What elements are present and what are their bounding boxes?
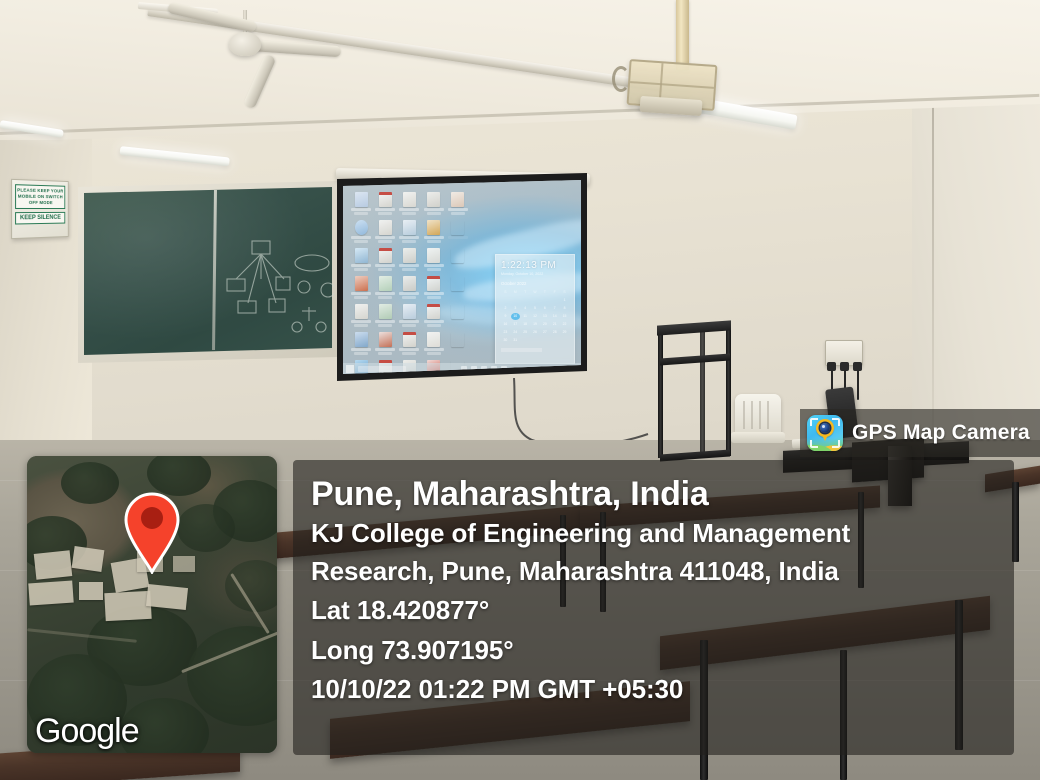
calendar-weekday-header: S (501, 289, 510, 296)
projector-mount-pole (676, 0, 689, 70)
wall-corner-edge (932, 84, 934, 434)
gps-map-camera-label: GPS Map Camera (852, 421, 1030, 445)
desktop-icon[interactable] (375, 220, 395, 243)
google-watermark: Google (35, 712, 139, 751)
calendar-day[interactable]: 26 (531, 329, 540, 336)
calendar-day[interactable]: 31 (511, 337, 520, 344)
calendar-day-empty (531, 297, 540, 304)
projection-screen: 1:22:13 PM Monday, October 10, 2022 Octo… (343, 180, 581, 374)
calendar-day[interactable]: 1 (560, 297, 569, 304)
desktop-icon[interactable] (399, 220, 419, 243)
calendar-day[interactable]: 13 (540, 313, 549, 320)
calendar-day[interactable]: 27 (540, 329, 549, 336)
gps-map-camera-badge: GPS Map Camera (800, 409, 1040, 457)
desktop-icon[interactable] (448, 332, 468, 355)
desktop-icon[interactable] (424, 332, 444, 355)
calendar-grid[interactable]: SMTWTFS123456789101112131415161718192021… (501, 289, 569, 344)
chalk-diagram (224, 235, 334, 345)
calendar-day-empty (511, 297, 520, 304)
desktop-icon[interactable] (448, 220, 468, 243)
desktop-icon[interactable] (351, 276, 371, 299)
desktop-icon[interactable] (375, 332, 395, 355)
calendar-weekday-header: W (531, 289, 540, 296)
desktop-icon[interactable] (399, 248, 419, 271)
calendar-weekday-header: M (511, 289, 520, 296)
calendar-footer (501, 348, 542, 352)
calendar-day[interactable]: 3 (511, 305, 520, 312)
desktop-icon[interactable] (351, 332, 371, 355)
desktop-icon[interactable] (351, 248, 371, 271)
calendar-day-empty (550, 337, 559, 344)
calendar-weekday-header: T (540, 289, 549, 296)
desktop-icon[interactable] (424, 192, 444, 215)
clock-date: Monday, October 10, 2022 (501, 272, 569, 276)
podium-leg (700, 332, 705, 456)
map-pin-icon (123, 492, 181, 574)
podium-leg (658, 328, 663, 458)
desktop-icons (351, 192, 469, 374)
timestamp-value: 10/10/22 01:22 PM GMT +05:30 (311, 670, 1014, 708)
calendar-day[interactable]: 14 (550, 313, 559, 320)
desktop-icon[interactable] (375, 276, 395, 299)
calendar-day[interactable]: 30 (501, 337, 510, 344)
desktop-icon[interactable] (351, 192, 371, 215)
desktop-icon[interactable] (424, 248, 444, 271)
calendar-day[interactable]: 16 (501, 321, 510, 328)
calendar-day[interactable]: 11 (521, 313, 530, 320)
calendar-day[interactable]: 19 (531, 321, 540, 328)
calendar-day[interactable]: 28 (550, 329, 559, 336)
clock-calendar-flyout[interactable]: 1:22:13 PM Monday, October 10, 2022 Octo… (495, 254, 575, 364)
desktop-icon[interactable] (399, 192, 419, 215)
plastic-chair-back (735, 394, 781, 436)
desktop-icon[interactable] (375, 248, 395, 271)
calendar-day-empty (501, 297, 510, 304)
notice-sign-line-2: KEEP SILENCE (15, 212, 65, 225)
address-line-2: Research, Pune, Maharashtra 411048, Indi… (311, 552, 1014, 590)
longitude-value: Long 73.907195° (311, 630, 1014, 670)
desktop-icon[interactable] (424, 304, 444, 327)
map-thumbnail[interactable]: Google (27, 456, 277, 753)
search-input[interactable] (358, 366, 406, 372)
desktop-icon[interactable] (448, 276, 468, 299)
desktop-icon[interactable] (399, 304, 419, 327)
latitude-value: Lat 18.420877° (311, 590, 1014, 630)
notice-sign: PLEASE KEEP YOUR MOBILE ON SWITCH OFF MO… (11, 179, 69, 239)
calendar-day[interactable]: 10 (511, 313, 520, 320)
calendar-day-empty (521, 337, 530, 344)
ceiling-fan-hub (229, 32, 261, 56)
calendar-day[interactable]: 20 (540, 321, 549, 328)
start-button-icon[interactable] (346, 365, 354, 373)
calendar-weekday-header: S (560, 289, 569, 296)
calendar-weekday-header: T (521, 289, 530, 296)
calendar-weekday-header: F (550, 289, 559, 296)
calendar-day[interactable]: 22 (560, 321, 569, 328)
satellite-imagery (27, 456, 277, 753)
location-title: Pune, Maharashtra, India (311, 474, 1014, 514)
notice-sign-line-1: PLEASE KEEP YOUR MOBILE ON SWITCH OFF MO… (15, 184, 65, 209)
calendar-day-empty (531, 337, 540, 344)
calendar-day[interactable]: 17 (511, 321, 520, 328)
calendar-day[interactable]: 6 (540, 305, 549, 312)
desktop-icon[interactable] (399, 332, 419, 355)
calendar-day-empty (540, 337, 549, 344)
desktop-icon[interactable] (399, 276, 419, 299)
desktop-icon[interactable] (424, 276, 444, 299)
gps-map-camera-icon (807, 415, 843, 451)
desktop-icon[interactable] (375, 192, 395, 215)
calendar-day[interactable]: 12 (531, 313, 540, 320)
desktop-icon[interactable] (375, 304, 395, 327)
calendar-day[interactable]: 29 (560, 329, 569, 336)
desktop-icon[interactable] (424, 220, 444, 243)
calendar-day-empty (521, 297, 530, 304)
calendar-day-empty (550, 297, 559, 304)
calendar-day[interactable]: 9 (501, 313, 510, 320)
calendar-day[interactable]: 21 (550, 321, 559, 328)
plug-wire (857, 370, 859, 400)
calendar-day[interactable]: 8 (560, 305, 569, 312)
calendar-day[interactable]: 18 (521, 321, 530, 328)
location-info-panel: Pune, Maharashtra, India KJ College of E… (293, 460, 1014, 755)
calendar-day[interactable]: 24 (511, 329, 520, 336)
calendar-day[interactable]: 25 (521, 329, 530, 336)
calendar-day[interactable]: 2 (501, 305, 510, 312)
desktop-icon[interactable] (448, 192, 468, 215)
desktop-icon[interactable] (448, 304, 468, 327)
calendar-month-label: October 2022 (501, 281, 569, 286)
calendar-day[interactable]: 15 (560, 313, 569, 320)
desktop-icon[interactable] (351, 220, 371, 243)
calendar-day[interactable]: 4 (521, 305, 530, 312)
calendar-day[interactable]: 5 (531, 305, 540, 312)
plastic-chair-seat (731, 432, 785, 443)
desktop-icon[interactable] (351, 304, 371, 327)
clock-time: 1:22:13 PM (501, 260, 569, 271)
calendar-day-empty (560, 337, 569, 344)
desktop-icon[interactable] (448, 248, 468, 271)
screenshot-root: PLEASE KEEP YOUR MOBILE ON SWITCH OFF MO… (0, 0, 1040, 780)
calendar-day[interactable]: 7 (550, 305, 559, 312)
calendar-day-empty (540, 297, 549, 304)
calendar-day[interactable]: 23 (501, 329, 510, 336)
address-line-1: KJ College of Engineering and Management (311, 514, 1014, 552)
